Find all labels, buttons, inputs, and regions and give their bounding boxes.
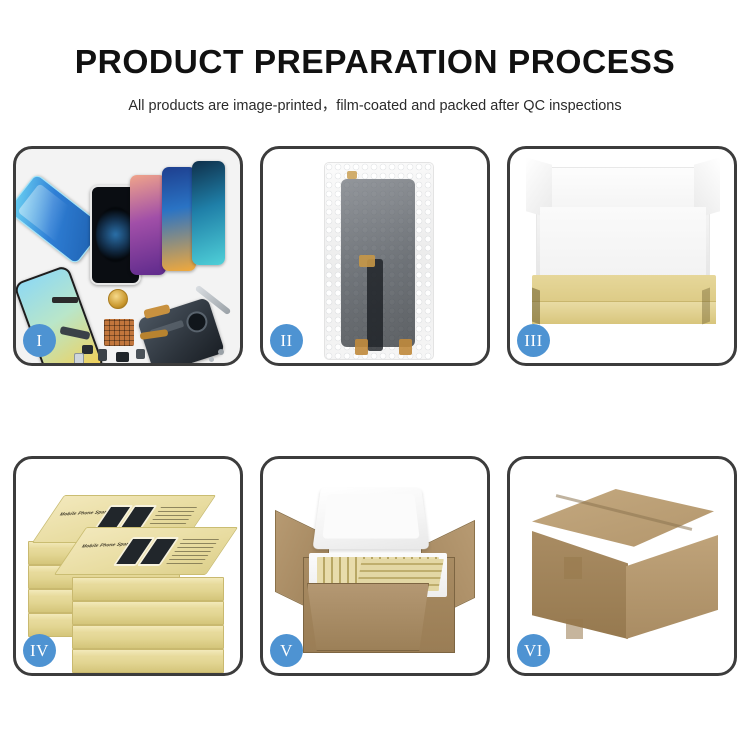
box-edge (73, 626, 223, 633)
page-subtitle: All products are image-printed，film-coat… (0, 82, 750, 115)
foam-sheet (540, 207, 706, 281)
speaker-bar-part (52, 297, 78, 303)
foam-box-lid (312, 488, 429, 550)
flex-cable-tail (367, 259, 383, 351)
step-badge-6: VI (517, 634, 550, 667)
header: PRODUCT PREPARATION PROCESS All products… (0, 0, 750, 115)
small-part-4 (136, 349, 145, 359)
carton-tape-mark-2 (566, 619, 583, 639)
step-badge-1: I (23, 324, 56, 357)
box-stack: Mobile Phone Spare Parts Mobile Phone Sp… (26, 481, 236, 671)
carton-tape-mark-1 (564, 557, 582, 579)
steps-grid: I II (13, 146, 737, 676)
step-badge-2: II (270, 324, 303, 357)
step-badge-3: III (517, 324, 550, 357)
carton-right-face (626, 535, 718, 639)
step-panel-3: III (507, 146, 737, 366)
step-panel-2: II (260, 146, 490, 366)
small-part-1 (82, 345, 93, 354)
screw-1 (218, 349, 224, 355)
gold-connector-4 (347, 171, 357, 179)
phone-teal-screen (192, 161, 225, 265)
step-panel-5: V (260, 456, 490, 676)
page-title: PRODUCT PREPARATION PROCESS (0, 0, 750, 82)
top-box-lid-front: Mobile Phone Spare Parts (54, 527, 238, 575)
bubble-wrap-bag (325, 163, 433, 359)
box-edge (73, 650, 223, 657)
kraft-box-side-right (702, 288, 710, 325)
camera-module-icon (184, 309, 210, 335)
product-preparation-infographic: PRODUCT PREPARATION PROCESS All products… (0, 0, 750, 750)
step-panel-4: Mobile Phone Spare Parts Mobile Phone Sp… (13, 456, 243, 676)
phone-back-housing (137, 297, 225, 363)
phone-purple-screen (130, 175, 166, 275)
stacked-box-7 (72, 625, 224, 649)
gold-connector-2 (355, 339, 368, 355)
stacked-box-5 (72, 577, 224, 601)
gold-connector-1 (359, 255, 375, 267)
small-part-3 (116, 352, 129, 362)
carton-front-face (307, 583, 429, 651)
stacked-box-8 (72, 649, 224, 673)
box-edge (73, 602, 223, 609)
step-badge-4: IV (23, 634, 56, 667)
screw-2 (209, 357, 214, 362)
step-panel-1: I (13, 146, 243, 366)
stacked-box-6 (72, 601, 224, 625)
step-panel-6: VI (507, 456, 737, 676)
chip-board-part (104, 319, 134, 346)
small-part-5 (74, 353, 84, 363)
gold-coil-part (108, 289, 128, 309)
step-badge-5: V (270, 634, 303, 667)
small-part-2 (98, 349, 107, 361)
kraft-box-side-left (532, 288, 540, 325)
gold-connector-3 (399, 339, 412, 355)
phone-blue-orange-screen (162, 167, 196, 271)
kraft-box-tray-front (532, 301, 716, 324)
box-edge (73, 578, 223, 585)
